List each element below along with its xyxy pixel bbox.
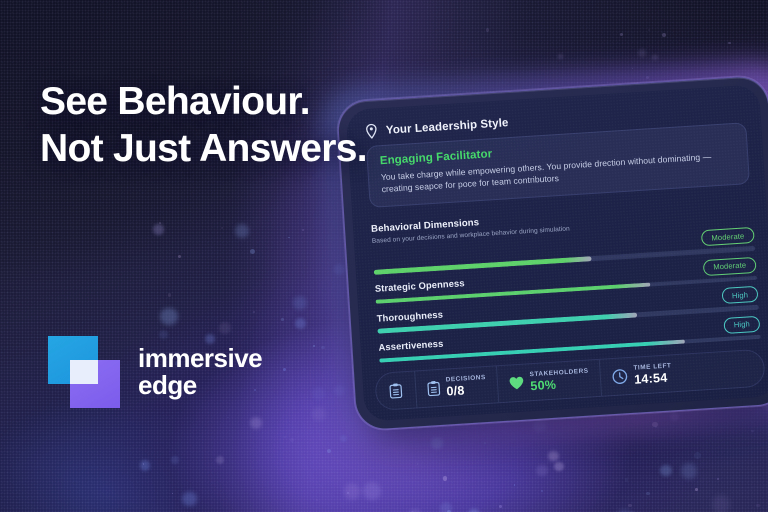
stat-stakeholders[interactable]: STAKEHOLDERS 50% <box>497 360 602 402</box>
dimension-rating-badge: Moderate <box>701 227 755 246</box>
headline-line-2: Not Just Answers. <box>40 125 380 172</box>
poster-canvas: See Behaviour. Not Just Answers. immersi… <box>0 0 768 512</box>
app-screen: Your Leadership Style Engaging Facilitat… <box>346 84 768 421</box>
brand-name-line-1: immersive <box>138 345 262 372</box>
dimension-label: Assertiveness <box>378 338 443 353</box>
dimension-rating-badge: Moderate <box>703 256 757 275</box>
brand-logo: immersive edge <box>42 336 262 408</box>
stat-time-left[interactable]: TIME LEFT 14:54 <box>600 355 684 396</box>
logo-square-overlap <box>70 360 98 384</box>
device-mockup: Your Leadership Style Engaging Facilitat… <box>336 75 768 431</box>
dimension-rating-badge: High <box>723 316 760 334</box>
device-frame: Your Leadership Style Engaging Facilitat… <box>336 75 768 431</box>
stat-decisions[interactable]: DECISIONS 0/8 <box>415 366 499 407</box>
headline-line-1: See Behaviour. <box>40 80 310 123</box>
screen-title: Your Leadership Style <box>386 117 509 137</box>
heart-icon <box>509 376 525 391</box>
stat-stakeholders-value: 50% <box>530 376 590 394</box>
stat-clipboard-standalone[interactable] <box>375 371 417 409</box>
stat-time-left-value: 14:54 <box>634 370 673 386</box>
clipboard-icon <box>427 380 441 397</box>
logo-mark-icon <box>42 336 120 408</box>
clock-icon <box>612 368 629 385</box>
page-title: See Behaviour. Not Just Answers. <box>40 78 380 172</box>
brand-name-line-2: edge <box>138 372 262 399</box>
behavioral-dimensions-section: Behavioral Dimensions Based on your deci… <box>371 200 761 363</box>
stat-decisions-value: 0/8 <box>446 382 487 398</box>
dimension-label: Thoroughness <box>376 308 443 323</box>
dimension-rating-badge: High <box>721 286 758 304</box>
brand-name: immersive edge <box>138 345 262 399</box>
dimension-label: Strategic Openness <box>375 277 465 294</box>
clipboard-icon <box>389 382 403 399</box>
